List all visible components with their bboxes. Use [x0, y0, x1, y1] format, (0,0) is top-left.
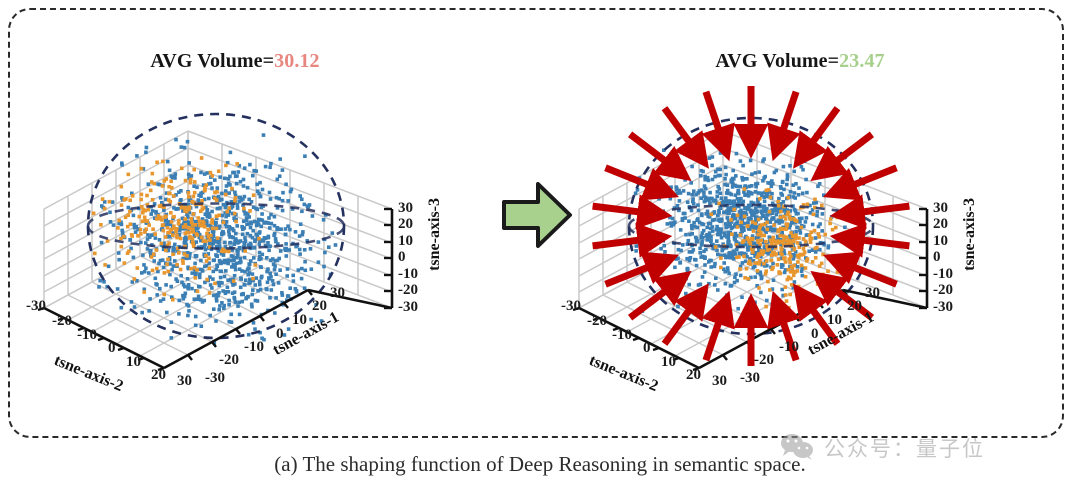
tick-x--20: -20 — [587, 313, 607, 330]
tick-z--30: -30 — [398, 299, 418, 316]
tick-x-10: 10 — [126, 354, 141, 371]
tick-x-20: 20 — [686, 367, 701, 384]
tick-z-0: 0 — [398, 249, 406, 266]
panel-right-title-prefix: AVG Volume= — [715, 50, 839, 72]
tick-y--10: -10 — [779, 339, 799, 356]
panel-before-shaping: AVG Volume=30.12 — [20, 16, 520, 426]
figure-root: AVG Volume=30.12 — [0, 0, 1080, 495]
tick-z--10: -10 — [933, 266, 953, 283]
tick-z-0: 0 — [933, 249, 941, 266]
tick-y-30: 30 — [330, 285, 345, 302]
tick-z-30: 30 — [398, 200, 413, 217]
tick-x-10: 10 — [661, 354, 676, 371]
tick-x-30: 30 — [177, 373, 192, 390]
axis-label-z: tsne-axis-3 — [426, 198, 444, 271]
watermark-text: 公众号：量子位 — [824, 433, 985, 463]
axis-label-z: tsne-axis-3 — [961, 198, 979, 271]
panel-left-title-prefix: AVG Volume= — [150, 50, 274, 72]
panel-after-shaping: AVG Volume=23.47 — [555, 16, 1055, 426]
tick-x-0: 0 — [643, 340, 651, 357]
tick-x--10: -10 — [612, 327, 632, 344]
tick-z--20: -20 — [933, 282, 953, 299]
tick-z-10: 10 — [398, 233, 413, 250]
watermark: 公众号：量子位 — [778, 428, 1068, 468]
tick-y--10: -10 — [244, 339, 264, 356]
panel-left-title: AVG Volume=30.12 — [20, 50, 450, 73]
tick-y--30: -30 — [740, 370, 760, 387]
tick-x--30: -30 — [26, 298, 46, 315]
panel-right-title: AVG Volume=23.47 — [650, 50, 950, 73]
plot-3d-right: -30 -20 -10 0 10 20 30 -30 -20 -10 0 10 … — [565, 76, 975, 376]
tick-x-0: 0 — [108, 340, 116, 357]
tick-y--30: -30 — [205, 370, 225, 387]
plot-3d-left: -30 -20 -10 0 10 20 30 -30 -20 -10 0 10 … — [30, 76, 440, 376]
tick-x--20: -20 — [52, 313, 72, 330]
tick-z-10: 10 — [933, 233, 948, 250]
tick-x--10: -10 — [77, 327, 97, 344]
tick-z--10: -10 — [398, 266, 418, 283]
tick-x-30: 30 — [712, 373, 727, 390]
tick-z--30: -30 — [933, 299, 953, 316]
panel-left-avg-volume-value: 30.12 — [274, 50, 320, 72]
panel-right-avg-volume-value: 23.47 — [839, 50, 885, 72]
tick-z-20: 20 — [933, 216, 948, 233]
tick-y-30: 30 — [865, 285, 880, 302]
wechat-bubbles-icon — [778, 431, 818, 466]
tick-z--20: -20 — [398, 282, 418, 299]
tick-x-20: 20 — [151, 367, 166, 384]
tick-y--20: -20 — [754, 352, 774, 369]
tick-y--20: -20 — [219, 352, 239, 369]
tick-z-30: 30 — [933, 200, 948, 217]
tick-z-20: 20 — [398, 216, 413, 233]
tick-x--30: -30 — [561, 298, 581, 315]
